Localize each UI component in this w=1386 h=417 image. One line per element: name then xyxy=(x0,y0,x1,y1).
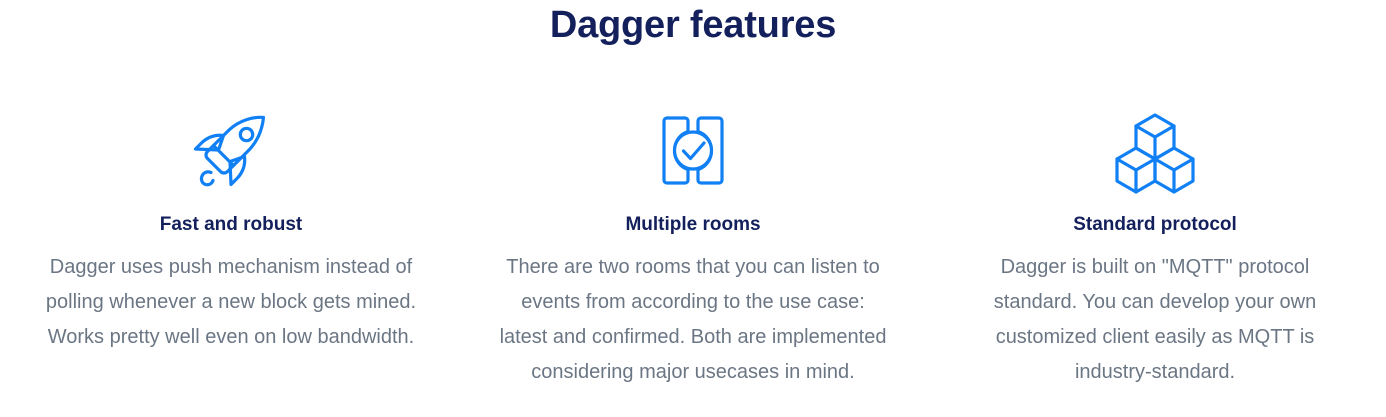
rooms-check-icon xyxy=(647,105,739,197)
feature-body: Dagger uses push mechanism instead of po… xyxy=(34,250,429,355)
feature-heading: Fast and robust xyxy=(160,213,303,237)
dagger-features-section: Dagger features Fast and robust Dagger u… xyxy=(0,0,1386,417)
feature-heading: Standard protocol xyxy=(1073,213,1237,237)
feature-card-standard-protocol: Standard protocol Dagger is built on "MQ… xyxy=(924,105,1386,390)
cubes-icon xyxy=(1109,105,1201,197)
feature-card-fast-and-robust: Fast and robust Dagger uses push mechani… xyxy=(0,105,462,390)
page-title: Dagger features xyxy=(0,0,1386,47)
feature-body: Dagger is built on "MQTT" protocol stand… xyxy=(958,250,1353,390)
feature-body: There are two rooms that you can listen … xyxy=(496,250,891,390)
feature-card-multiple-rooms: Multiple rooms There are two rooms that … xyxy=(462,105,924,390)
feature-heading: Multiple rooms xyxy=(625,213,760,237)
rocket-icon xyxy=(185,105,277,197)
features-row: Fast and robust Dagger uses push mechani… xyxy=(0,105,1386,390)
